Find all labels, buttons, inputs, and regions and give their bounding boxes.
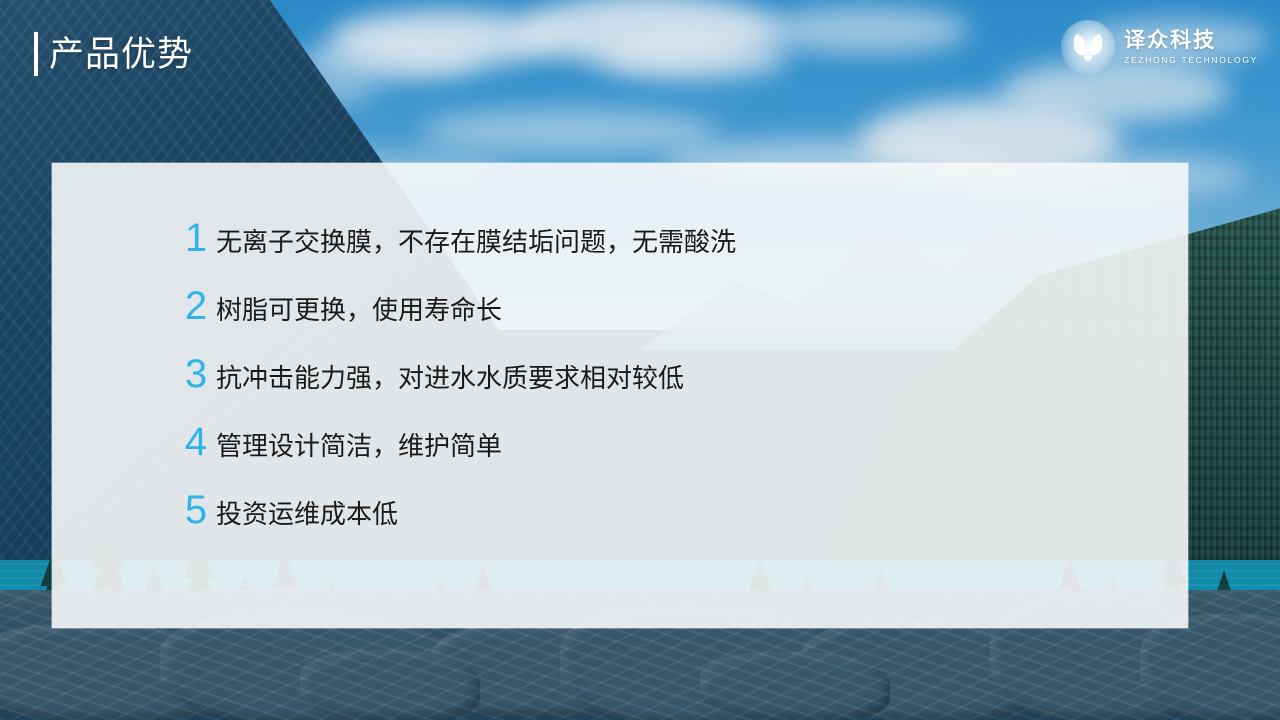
list-item-label: 投资运维成本低 [216,501,398,527]
logo-text-block: 译众科技 ZEZHONG TECHNOLOGY [1124,30,1258,65]
list-item-number: 2 [178,286,214,326]
list-item-label: 抗冲击能力强，对进水水质要求相对较低 [216,365,684,391]
title-accent-bar [34,32,38,76]
list-item: 5投资运维成本低 [178,490,1168,558]
logo-name-en: ZEZHONG TECHNOLOGY [1124,56,1258,65]
slide-title: 产品优势 [34,32,193,76]
list-item-number: 4 [178,422,214,462]
water-drop-leaf-icon [1061,20,1115,74]
content-panel: 1无离子交换膜，不存在膜结垢问题，无需酸洗2树脂可更换，使用寿命长3抗冲击能力强… [52,163,1188,628]
advantages-list: 1无离子交换膜，不存在膜结垢问题，无需酸洗2树脂可更换，使用寿命长3抗冲击能力强… [178,218,1168,558]
logo-name-cn: 译众科技 [1124,30,1216,51]
cloud-shape [600,36,790,80]
cloud-shape [420,108,720,154]
list-item-number: 5 [178,490,214,530]
cloud-shape [760,6,970,54]
list-item-label: 无离子交换膜，不存在膜结垢问题，无需酸洗 [216,229,736,255]
list-item-label: 树脂可更换，使用寿命长 [216,297,502,323]
list-item-number: 3 [178,354,214,394]
list-item-number: 1 [178,218,214,258]
company-logo: 译众科技 ZEZHONG TECHNOLOGY [1061,20,1258,74]
list-item-label: 管理设计简洁，维护简单 [216,433,502,459]
list-item: 1无离子交换膜，不存在膜结垢问题，无需酸洗 [178,218,1168,286]
presentation-slide: 产品优势 译众科技 ZEZHONG TECHNOLOGY 1无离子交换膜，不存在… [0,0,1280,720]
logo-mark-svg [1071,28,1105,66]
list-item: 2树脂可更换，使用寿命长 [178,286,1168,354]
page-title: 产品优势 [49,37,193,72]
list-item: 3抗冲击能力强，对进水水质要求相对较低 [178,354,1168,422]
list-item: 4管理设计简洁，维护简单 [178,422,1168,490]
